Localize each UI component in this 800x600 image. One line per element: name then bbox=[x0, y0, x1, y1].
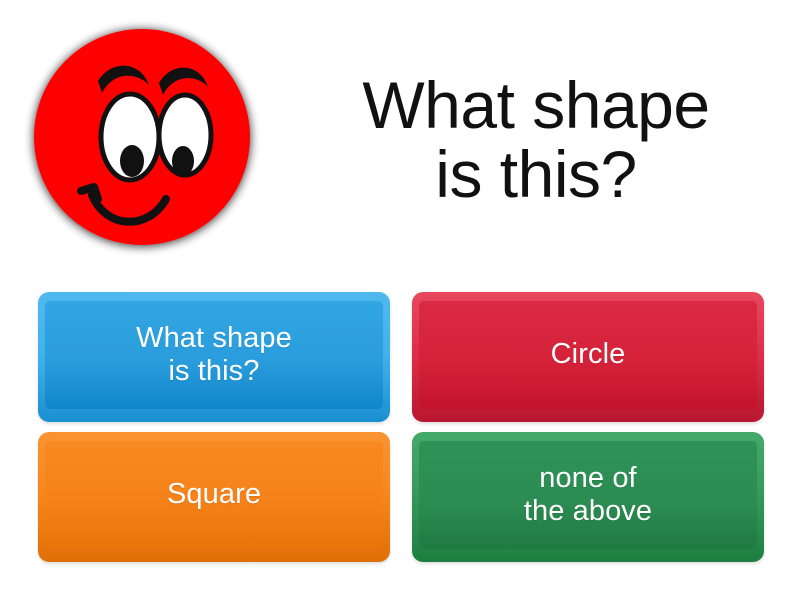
answer-option-3[interactable]: Square bbox=[38, 432, 390, 562]
answer-option-1[interactable]: What shape is this? bbox=[38, 292, 390, 422]
question-image bbox=[0, 0, 290, 280]
question-area: What shape is this? bbox=[0, 0, 800, 280]
answer-option-3-label: Square bbox=[167, 478, 261, 511]
answer-option-2-label: Circle bbox=[551, 338, 626, 371]
answer-option-1-face: What shape is this? bbox=[45, 301, 383, 409]
answer-option-4-label: none of the above bbox=[524, 462, 652, 528]
answer-option-4-face: none of the above bbox=[419, 441, 757, 549]
answer-options: What shape is this? Circle Square none o… bbox=[38, 292, 764, 562]
answer-option-2-face: Circle bbox=[419, 301, 757, 409]
answer-option-3-face: Square bbox=[45, 441, 383, 549]
question-text: What shape is this? bbox=[290, 71, 800, 208]
answer-option-2[interactable]: Circle bbox=[412, 292, 764, 422]
question-text-label: What shape is this? bbox=[362, 71, 709, 208]
answer-option-4[interactable]: none of the above bbox=[412, 432, 764, 562]
quiz-activity: What shape is this? What shape is this? … bbox=[0, 0, 800, 600]
red-smiley-face-icon bbox=[20, 15, 270, 265]
answer-option-1-label: What shape is this? bbox=[136, 322, 292, 388]
